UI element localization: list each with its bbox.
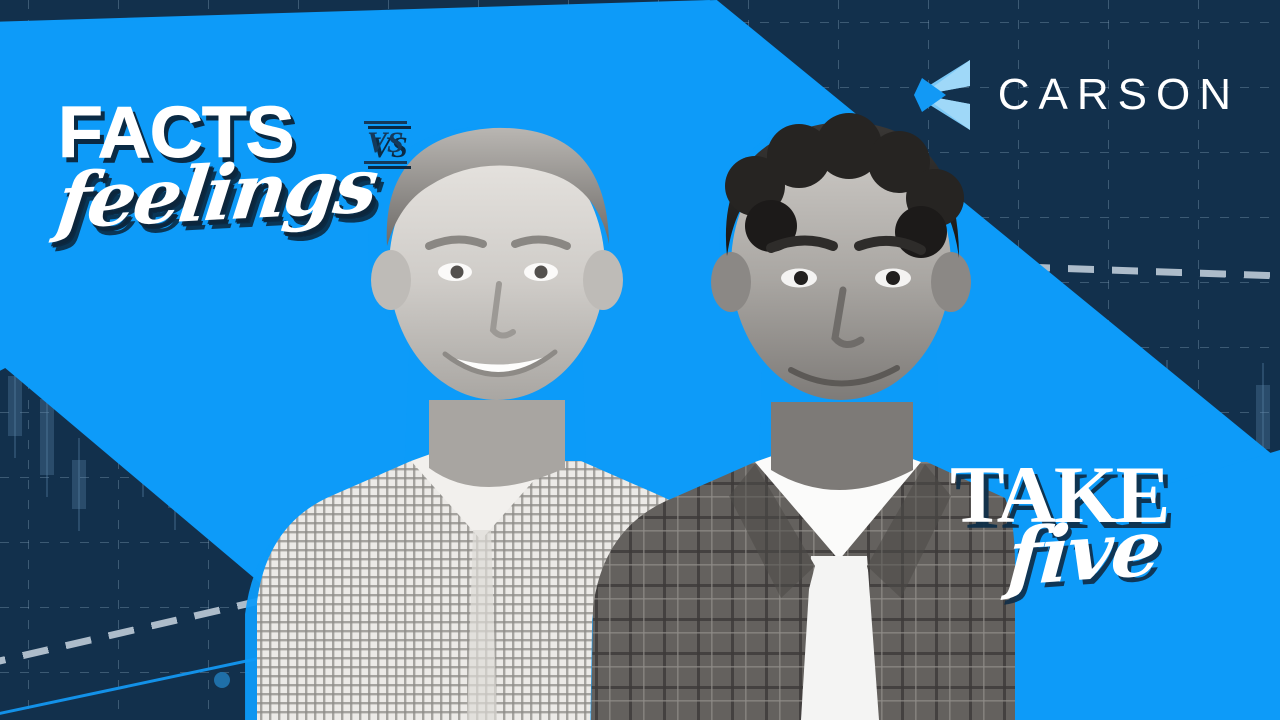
carson-logo: CARSON	[912, 58, 1240, 132]
host-right	[590, 113, 1015, 720]
carson-chevron-icon	[912, 58, 972, 132]
candlestick-body	[40, 399, 54, 475]
candlestick-body	[72, 460, 86, 509]
podcast-cover-art: FACTS VS feelings TAKE five CARSON	[0, 0, 1280, 720]
show-title-feelings: feelings	[53, 148, 379, 240]
segment-title-lockup: TAKE five	[950, 458, 1230, 628]
candlestick-body	[1256, 385, 1270, 449]
carson-wordmark: CARSON	[998, 70, 1240, 120]
show-title-lockup: FACTS VS feelings	[58, 104, 418, 274]
segment-title-five: five	[1005, 510, 1162, 598]
candlestick-body	[8, 376, 22, 436]
